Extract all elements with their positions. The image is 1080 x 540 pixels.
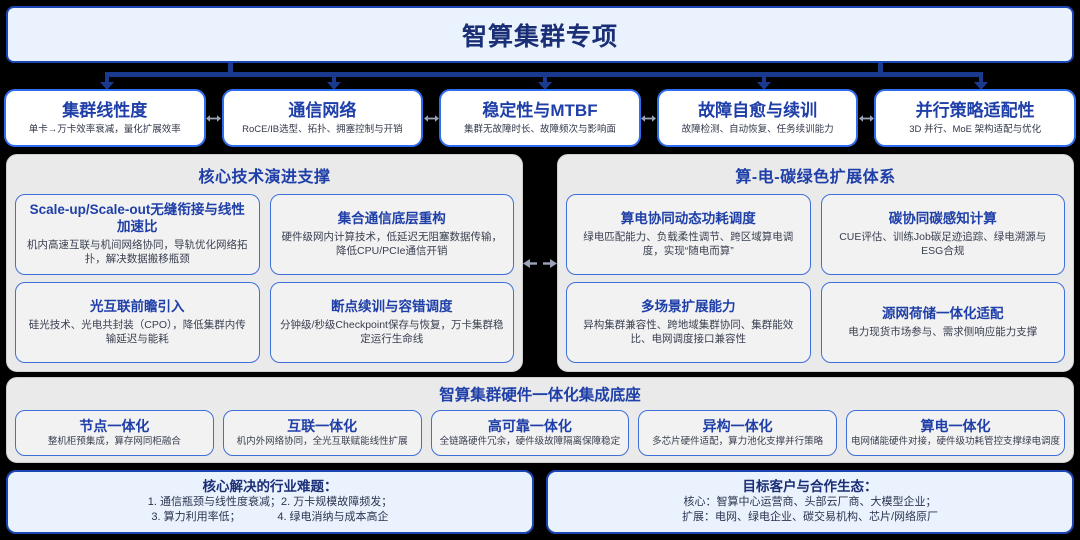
hardware-card-2[interactable]: 高可靠一体化 全链路硬件冗余，硬件级故障隔离保障稳定 [431,410,630,456]
page-title: 智算集群专项 [462,17,618,53]
pillar-title: 稳定性与MTBF [482,101,597,121]
hardware-card-grid: 节点一体化 整机柜预集成，算存网同柜融合 互联一体化 机内外网络协同，全光互联赋… [15,410,1065,456]
double-arrow-icon [859,114,874,123]
card-title: 碳协同碳感知计算 [889,211,997,228]
panel-core-tech: 核心技术演进支撑 Scale-up/Scale-out无缝衔接与线性加速比 机内… [6,154,523,372]
pillar-card-4[interactable]: 并行策略适配性 3D 并行、MoE 架构适配与优化 [874,89,1076,147]
note-line-1: 核心：智算中心运营商、头部云厂商、大模型企业； [684,495,937,510]
note-industry-challenges: 核心解决的行业难题： 1. 通信瓶颈与线性度衰减；2. 万卡规模故障频发； 3.… [6,470,534,534]
card-subtitle: 绿电匹配能力、负载柔性调节、跨区域算电调度，实现“随电而算” [575,230,802,258]
hardware-card-1[interactable]: 互联一体化 机内外网络协同，全光互联赋能线性扩展 [223,410,422,456]
card-subtitle: 硬件级网内计算技术，低延迟无阻塞数据传输，降低CPU/PCIe通信开销 [279,230,506,258]
hardware-card-4[interactable]: 算电一体化 电网储能硬件对接，硬件级功耗管控支撑绿电调度 [846,410,1065,456]
energy-card-1[interactable]: 碳协同碳感知计算 CUE评估、训练Job碳足迹追踪、绿电溯源与ESG合规 [821,194,1066,275]
pillar-card-1[interactable]: 通信网络 RoCE/IB选型、拓扑、拥塞控制与开销 [222,89,424,147]
tech-card-0[interactable]: Scale-up/Scale-out无缝衔接与线性加速比 机内高速互联与机间网络… [15,194,260,275]
middle-panels-row: 核心技术演进支撑 Scale-up/Scale-out无缝衔接与线性加速比 机内… [6,154,1074,372]
card-subtitle: 电网储能硬件对接，硬件级功耗管控支撑绿电调度 [851,436,1060,447]
card-title: 光互联前瞻引入 [90,299,185,316]
pillar-title: 通信网络 [288,101,356,121]
panel-card-grid: Scale-up/Scale-out无缝衔接与线性加速比 机内高速互联与机间网络… [15,194,514,363]
tech-card-2[interactable]: 光互联前瞻引入 硅光技术、光电共封装（CPO），降低集群内传输延迟与能耗 [15,282,260,363]
pillar-subtitle: 3D 并行、MoE 架构适配与优化 [909,124,1041,135]
note-line-2: 3. 算力利用率低； 4. 绿电消纳与成本高企 [151,510,388,525]
note-line-1: 1. 通信瓶颈与线性度衰减；2. 万卡规模故障频发； [148,495,392,510]
pillars-row: 集群线性度 单卡→万卡效率衰减，量化扩展效率 通信网络 RoCE/IB选型、拓扑… [4,89,1076,147]
card-subtitle: 分钟级/秒级Checkpoint保存与恢复，万卡集群稳定运行生命线 [279,318,506,346]
card-subtitle: 整机柜预集成，算存网同柜融合 [48,436,181,447]
tech-card-3[interactable]: 断点续训与容错调度 分钟级/秒级Checkpoint保存与恢复，万卡集群稳定运行… [270,282,515,363]
card-title: 算电一体化 [921,418,991,434]
pillar-card-0[interactable]: 集群线性度 单卡→万卡效率衰减，量化扩展效率 [4,89,206,147]
pillar-title: 并行策略适配性 [916,101,1035,121]
card-title: 异构一体化 [703,418,773,434]
pillar-connector-3 [858,89,874,147]
double-arrow-icon [641,114,656,123]
card-subtitle: 硅光技术、光电共封装（CPO），降低集群内传输延迟与能耗 [24,318,251,346]
tech-card-1[interactable]: 集合通信底层重构 硬件级网内计算技术，低延迟无阻塞数据传输，降低CPU/PCIe… [270,194,515,275]
double-arrow-icon [523,258,557,269]
card-title: 算电协同动态功耗调度 [621,211,756,228]
card-title: 集合通信底层重构 [338,211,446,228]
panel-card-grid: 算电协同动态功耗调度 绿电匹配能力、负载柔性调节、跨区域算电调度，实现“随电而算… [566,194,1065,363]
panels-connector [523,154,557,372]
pillar-connector-1 [423,89,439,147]
panel-title: 算-电-碳绿色扩展体系 [566,163,1065,187]
card-title: 互联一体化 [287,418,357,434]
pillar-card-3[interactable]: 故障自愈与续训 故障检测、自动恢复、任务续训能力 [657,89,859,147]
energy-card-2[interactable]: 多场景扩展能力 异构集群兼容性、跨地域集群协同、集群能效比、电网调度接口兼容性 [566,282,811,363]
pillar-title: 故障自愈与续训 [698,101,817,121]
pillar-connector-0 [206,89,222,147]
double-arrow-icon [424,114,439,123]
pillar-title: 集群线性度 [62,101,147,121]
card-title: Scale-up/Scale-out无缝衔接与线性加速比 [24,202,251,236]
tree-connector [0,63,1080,91]
energy-card-3[interactable]: 源网荷储一体化适配 电力现货市场参与、需求侧响应能力支撑 [821,282,1066,363]
card-title: 节点一体化 [79,418,149,434]
diagram-title-box: 智算集群专项 [6,6,1074,63]
bottom-notes-row: 核心解决的行业难题： 1. 通信瓶颈与线性度衰减；2. 万卡规模故障频发； 3.… [6,470,1074,534]
card-title: 断点续训与容错调度 [331,299,453,316]
card-subtitle: 异构集群兼容性、跨地域集群协同、集群能效比、电网调度接口兼容性 [575,318,802,346]
panel-title: 智算集群硬件一体化集成底座 [15,383,1065,405]
note-title: 目标客户与合作生态： [743,479,878,495]
card-title: 源网荷储一体化适配 [882,306,1004,323]
pillar-subtitle: RoCE/IB选型、拓扑、拥塞控制与开销 [242,124,402,135]
card-subtitle: 全链路硬件冗余，硬件级故障隔离保障稳定 [440,436,621,447]
card-subtitle: 多芯片硬件适配，算力池化支撑并行策略 [652,436,823,447]
panel-hardware-base: 智算集群硬件一体化集成底座 节点一体化 整机柜预集成，算存网同柜融合 互联一体化… [6,377,1074,463]
panel-green-energy: 算-电-碳绿色扩展体系 算电协同动态功耗调度 绿电匹配能力、负载柔性调节、跨区域… [557,154,1074,372]
pillar-card-2[interactable]: 稳定性与MTBF 集群无故障时长、故障频次与影响面 [439,89,641,147]
card-title: 多场景扩展能力 [641,299,736,316]
panel-title: 核心技术演进支撑 [15,163,514,187]
diagram-canvas: 智算集群专项 集群线性度 单卡→万卡效率衰减，量化扩展效率 [0,0,1080,540]
pillar-subtitle: 单卡→万卡效率衰减，量化扩展效率 [29,124,181,135]
card-subtitle: CUE评估、训练Job碳足迹追踪、绿电溯源与ESG合规 [830,230,1057,258]
card-title: 高可靠一体化 [488,418,572,434]
pillar-subtitle: 故障检测、自动恢复、任务续训能力 [682,124,834,135]
double-arrow-icon [206,114,221,123]
card-subtitle: 电力现货市场参与、需求侧响应能力支撑 [848,325,1037,339]
pillar-connector-2 [641,89,657,147]
note-line-2: 扩展：电网、绿电企业、碳交易机构、芯片/网络原厂 [682,510,938,525]
pillar-subtitle: 集群无故障时长、故障频次与影响面 [464,124,616,135]
energy-card-0[interactable]: 算电协同动态功耗调度 绿电匹配能力、负载柔性调节、跨区域算电调度，实现“随电而算… [566,194,811,275]
card-subtitle: 机内高速互联与机间网络协同，导轨优化网络拓扑，解决数据搬移瓶颈 [24,238,251,266]
hardware-card-0[interactable]: 节点一体化 整机柜预集成，算存网同柜融合 [15,410,214,456]
hardware-card-3[interactable]: 异构一体化 多芯片硬件适配，算力池化支撑并行策略 [638,410,837,456]
card-subtitle: 机内外网络协同，全光互联赋能线性扩展 [237,436,408,447]
note-target-customers: 目标客户与合作生态： 核心：智算中心运营商、头部云厂商、大模型企业； 扩展：电网… [546,470,1074,534]
note-title: 核心解决的行业难题： [203,479,338,495]
